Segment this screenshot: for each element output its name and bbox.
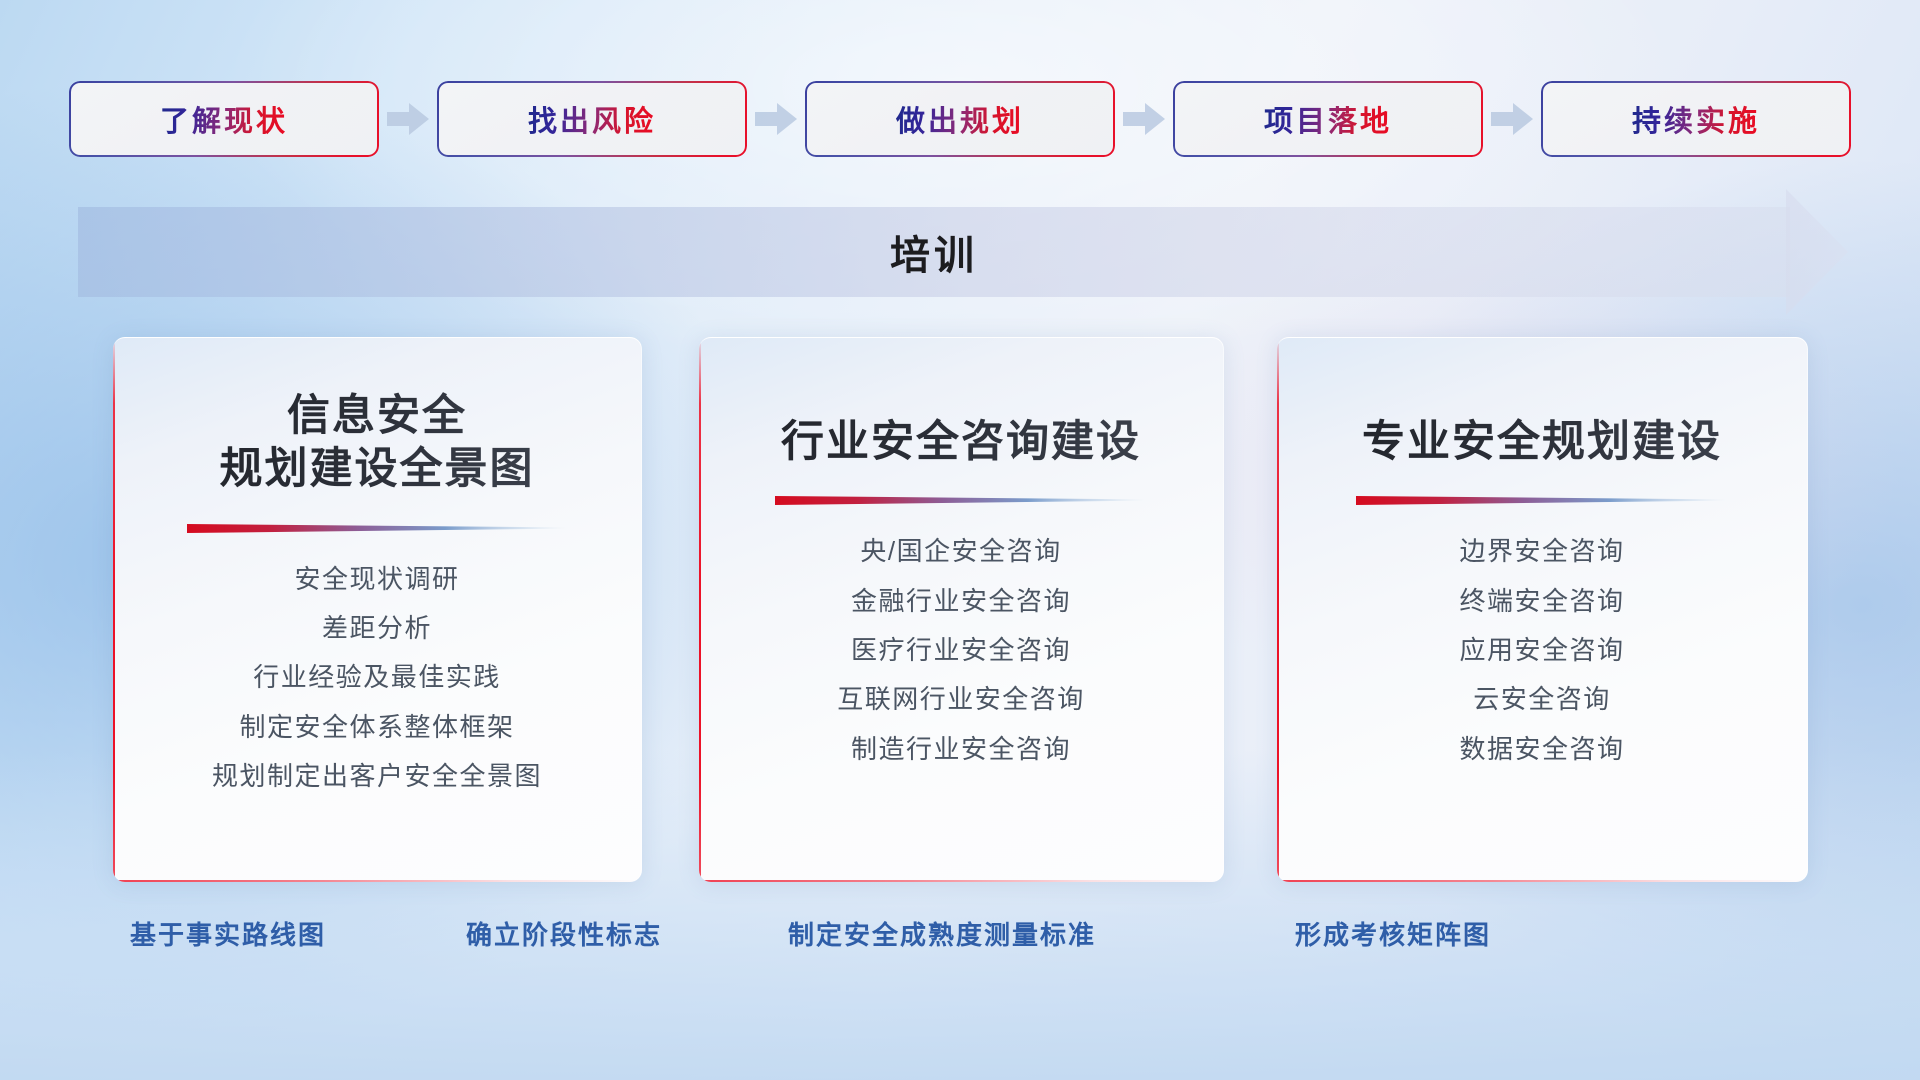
banner-title: 培训	[78, 207, 1790, 297]
bottom-label-maturity: 制定安全成熟度测量标准	[788, 915, 1096, 952]
card-divider	[1356, 493, 1728, 507]
step-label: 持续实施	[1632, 98, 1760, 140]
card-title: 信息安全 规划建设全景图	[220, 390, 535, 497]
card-divider	[187, 521, 567, 535]
list-item: 差距分析	[322, 608, 432, 648]
card-title: 行业安全咨询建设	[781, 416, 1141, 469]
step-box-5[interactable]: 持续实施	[1543, 83, 1849, 155]
card-row: 信息安全 规划建设全景图	[0, 337, 1920, 882]
list-item: 应用安全咨询	[1459, 630, 1624, 670]
list-item: 制造行业安全咨询	[851, 729, 1071, 769]
bottom-label-matrix: 形成考核矩阵图	[1295, 915, 1491, 952]
arrow-right-icon	[745, 83, 807, 155]
list-item: 安全现状调研	[294, 559, 459, 599]
step-label: 做出规划	[896, 98, 1024, 140]
arrow-right-icon	[1481, 83, 1543, 155]
card-item-list: 边界安全咨询 终端安全咨询 应用安全咨询 云安全咨询 数据安全咨询	[1277, 531, 1807, 768]
card-divider	[775, 493, 1147, 507]
list-item: 规划制定出客户安全全景图	[212, 756, 542, 796]
list-item: 制定安全体系整体框架	[239, 707, 514, 747]
process-step-row: 了解现状 找出风险 做出规划 项目落地 持续实施	[0, 78, 1920, 160]
list-item: 行业经验及最佳实践	[253, 657, 501, 697]
step-box-1[interactable]: 了解现状	[71, 83, 377, 155]
step-label: 了解现状	[160, 98, 288, 140]
step-label: 项目落地	[1264, 98, 1392, 140]
step-box-2[interactable]: 找出风险	[439, 83, 745, 155]
list-item: 医疗行业安全咨询	[851, 630, 1071, 670]
card-title: 专业安全规划建设	[1362, 416, 1722, 469]
list-item: 数据安全咨询	[1459, 729, 1624, 769]
banner-arrow-tip-icon	[1786, 189, 1848, 315]
bottom-label-row: 基于事实路线图 确立阶段性标志 制定安全成熟度测量标准 形成考核矩阵图	[0, 915, 1920, 975]
bottom-label-roadmap: 基于事实路线图	[130, 915, 326, 952]
card-industry-security-consulting[interactable]: 行业安全咨询建设	[699, 337, 1224, 882]
step-label: 找出风险	[528, 98, 656, 140]
bottom-label-milestone: 确立阶段性标志	[466, 915, 662, 952]
list-item: 云安全咨询	[1473, 679, 1611, 719]
training-banner: 培训	[78, 207, 1848, 297]
card-professional-security-planning[interactable]: 专业安全规划建设	[1277, 337, 1808, 882]
step-box-4[interactable]: 项目落地	[1175, 83, 1481, 155]
list-item: 互联网行业安全咨询	[837, 679, 1085, 719]
arrow-right-icon	[1113, 83, 1175, 155]
list-item: 央/国企安全咨询	[860, 531, 1061, 571]
list-item: 金融行业安全咨询	[851, 581, 1071, 621]
arrow-right-icon	[377, 83, 439, 155]
list-item: 边界安全咨询	[1459, 531, 1624, 571]
card-information-security-blueprint[interactable]: 信息安全 规划建设全景图	[113, 337, 642, 882]
card-item-list: 安全现状调研 差距分析 行业经验及最佳实践 制定安全体系整体框架 规划制定出客户…	[113, 559, 641, 796]
card-item-list: 央/国企安全咨询 金融行业安全咨询 医疗行业安全咨询 互联网行业安全咨询 制造行…	[699, 531, 1223, 768]
list-item: 终端安全咨询	[1459, 581, 1624, 621]
step-box-3[interactable]: 做出规划	[807, 83, 1113, 155]
